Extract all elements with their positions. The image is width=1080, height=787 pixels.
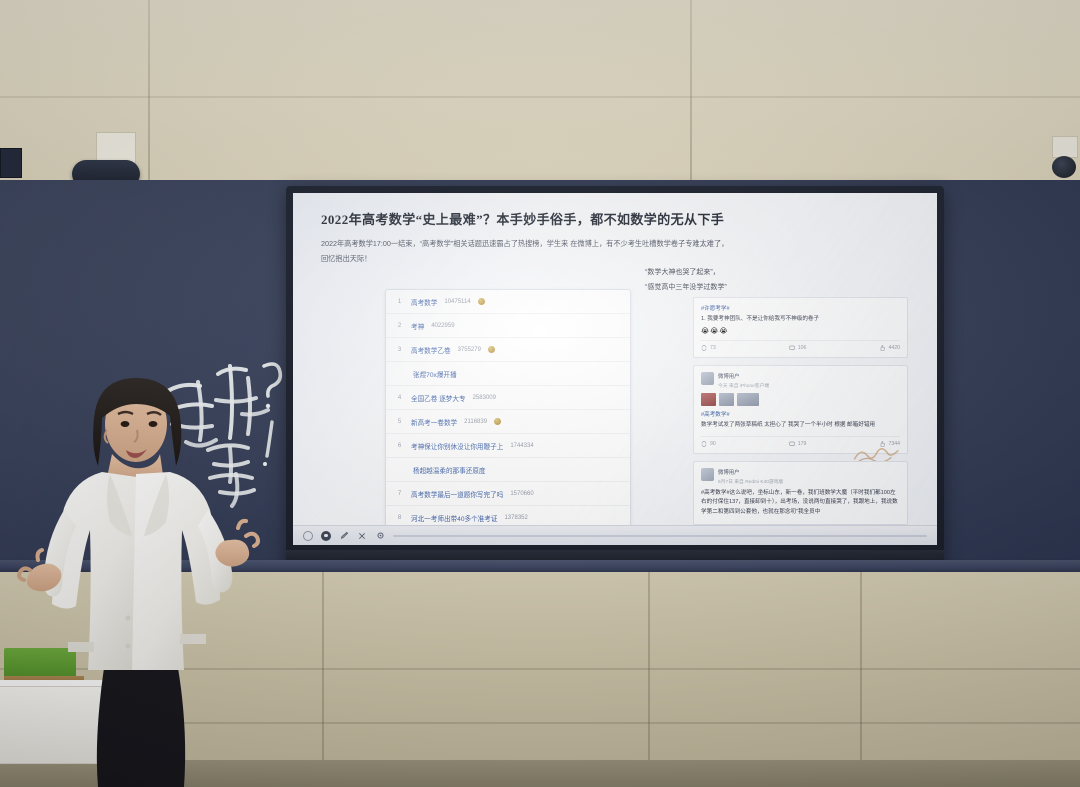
rank-number: 3 bbox=[395, 347, 404, 353]
rank-number: 2 bbox=[395, 323, 404, 329]
post-emojis: 😭😭😭 bbox=[701, 327, 900, 335]
slide-title: 2022年高考数学“史上最难”？本手妙手俗手，都不如数学的无从下手 bbox=[321, 209, 917, 228]
cabinet-seam bbox=[648, 572, 650, 787]
thumbnail-image[interactable] bbox=[737, 393, 759, 406]
teacher-eye-left bbox=[121, 421, 130, 427]
circle-outline-icon[interactable] bbox=[303, 531, 313, 541]
post-body: 1. 我要考神团队、不是让你给我写不神级的卷子 bbox=[701, 315, 900, 325]
list-item[interactable]: 4 全国乙卷 逐梦大专 2583009 bbox=[386, 386, 630, 410]
repost-action[interactable]: 73 bbox=[701, 345, 716, 351]
social-post[interactable]: #许愿考学# 1. 我要考神团队、不是让你给我写不神级的卷子 😭😭😭 73 bbox=[693, 297, 908, 358]
slide-subtitle: 2022年高考数学17:00一结束，“高考数学”相关话题迅速霸占了热搜榜，学生来… bbox=[321, 237, 917, 267]
list-item[interactable]: 张煜70x爆开播 bbox=[386, 362, 630, 386]
social-post[interactable]: 微博用户 6月7日 来自 Redmi K40游戏版 #高考数学#这么说吧，坐标山… bbox=[693, 461, 908, 525]
list-item[interactable]: 杨超越温柔的那事还原度 bbox=[386, 458, 630, 482]
thumbnail-image[interactable] bbox=[701, 393, 716, 406]
close-icon[interactable] bbox=[357, 531, 367, 541]
repost-icon bbox=[701, 345, 707, 351]
wall-camera bbox=[1052, 156, 1076, 178]
hot-keyword[interactable]: 全国乙卷 逐梦大专 bbox=[411, 393, 466, 403]
heat-value: 2116839 bbox=[464, 419, 487, 425]
teacher-blazer-right bbox=[132, 472, 220, 670]
brightness-slider[interactable] bbox=[393, 535, 927, 537]
teacher-blazer-left bbox=[52, 472, 144, 670]
teacher-coat-button bbox=[125, 615, 130, 620]
wall-panel-seam bbox=[148, 0, 150, 182]
post-author[interactable]: 微博用户 bbox=[718, 372, 900, 380]
upper-wall bbox=[0, 0, 1080, 182]
rank-number: 8 bbox=[395, 515, 404, 521]
hot-keyword[interactable]: 高考数学乙卷 bbox=[411, 345, 451, 355]
comment-count: 179 bbox=[798, 441, 807, 447]
list-item[interactable]: 6 考神保让你别休没让你用鞭子上 1744334 bbox=[386, 434, 630, 458]
post-body: 数学考试发了两张草稿纸 太担心了 我哭了一个半小时 根据 邮箱好错用 bbox=[701, 421, 900, 431]
list-item[interactable]: 1 高考数学 10475114 bbox=[386, 290, 630, 314]
teacher-eye-right bbox=[149, 421, 158, 427]
slide-subtitle-line-2: 回忆抱出天际！ bbox=[321, 252, 917, 267]
repost-count: 90 bbox=[710, 441, 716, 447]
hot-keyword[interactable]: 高考数学最后一道题你写完了吗 bbox=[411, 489, 503, 499]
heat-value: 1378352 bbox=[504, 515, 527, 521]
hot-badge-icon bbox=[494, 418, 501, 425]
slide-quote-2: “感觉高中三年没学过数学” bbox=[645, 280, 727, 295]
hot-keyword[interactable]: 新高考一卷数学 bbox=[411, 417, 457, 427]
cabinet-seam bbox=[322, 572, 324, 787]
teacher-skirt bbox=[97, 668, 185, 787]
list-item[interactable]: 5 新高考一卷数学 2116839 bbox=[386, 410, 630, 434]
thumbnail-image[interactable] bbox=[719, 393, 734, 406]
social-post[interactable]: 微博用户 今天 来自 iPhone客户端 bbox=[693, 365, 908, 454]
teacher-coat-button bbox=[125, 643, 130, 648]
smartboard-toolbar[interactable] bbox=[293, 525, 937, 545]
wall-horizontal-seam bbox=[0, 96, 1080, 98]
rank-number: 1 bbox=[395, 299, 404, 305]
hot-badge-icon bbox=[488, 346, 495, 353]
rank-number: 5 bbox=[395, 419, 404, 425]
comment-icon bbox=[789, 345, 795, 351]
repost-action[interactable]: 90 bbox=[701, 441, 716, 447]
post-hashtag[interactable]: #许愿考学# bbox=[701, 304, 900, 312]
slide-quote-1: “数学大神也哭了起来”， bbox=[645, 265, 727, 280]
presenting-teacher bbox=[8, 368, 288, 787]
hot-search-card[interactable]: 1 高考数学 10475114 2 考神 4022959 3 高考数学乙卷 37… bbox=[385, 289, 631, 533]
comment-action[interactable]: 106 bbox=[789, 345, 807, 351]
comment-count: 106 bbox=[798, 345, 807, 351]
hot-keyword[interactable]: 考神保让你别休没让你用鞭子上 bbox=[411, 441, 503, 451]
heat-value: 10475114 bbox=[444, 299, 470, 305]
heat-value: 4022959 bbox=[431, 323, 454, 329]
wall-junction-box bbox=[0, 148, 22, 178]
post-author[interactable]: 微博用户 bbox=[718, 468, 900, 476]
post-timestamp: 6月7日 来自 Redmi K40游戏版 bbox=[718, 478, 900, 485]
pen-icon[interactable] bbox=[339, 531, 349, 541]
teacher-pocket-left bbox=[68, 642, 94, 652]
comment-icon bbox=[789, 441, 795, 447]
post-actions[interactable]: 73 106 bbox=[701, 340, 900, 351]
hot-keyword[interactable]: 杨超越温柔的那事还原度 bbox=[413, 465, 486, 475]
post-header: 微博用户 6月7日 来自 Redmi K40游戏版 bbox=[701, 468, 900, 485]
gear-icon[interactable] bbox=[375, 531, 385, 541]
heat-value: 1744334 bbox=[510, 443, 533, 449]
avatar[interactable] bbox=[701, 468, 714, 481]
like-count: 4420 bbox=[888, 345, 900, 351]
repost-count: 73 bbox=[710, 345, 716, 351]
hot-badge-icon bbox=[478, 298, 485, 305]
list-item[interactable]: 3 高考数学乙卷 3755279 bbox=[386, 338, 630, 362]
post-body: #高考数学#这么说吧，坐标山东，新一卷，我们班数学大魔（平时我们都100左右的付… bbox=[701, 489, 900, 518]
classroom-scene: 2022年高考数学“史上最难”？本手妙手俗手，都不如数学的无从下手 2022年高… bbox=[0, 0, 1080, 787]
post-thumbnails[interactable] bbox=[701, 393, 900, 406]
interactive-smartboard[interactable]: 2022年高考数学“史上最难”？本手妙手俗手，都不如数学的无从下手 2022年高… bbox=[286, 186, 944, 572]
smartboard-screen[interactable]: 2022年高考数学“史上最难”？本手妙手俗手，都不如数学的无从下手 2022年高… bbox=[293, 193, 937, 545]
wall-outlet-plate-right bbox=[1052, 136, 1078, 158]
record-dot-icon[interactable] bbox=[321, 531, 331, 541]
heat-value: 1570660 bbox=[510, 491, 533, 497]
heat-value: 3755279 bbox=[458, 347, 481, 353]
post-meta: 微博用户 6月7日 来自 Redmi K40游戏版 bbox=[718, 468, 900, 485]
rank-number: 7 bbox=[395, 491, 404, 497]
slide-subtitle-line-1: 2022年高考数学17:00一结束，“高考数学”相关话题迅速霸占了热搜榜，学生来… bbox=[321, 237, 917, 252]
repost-icon bbox=[701, 441, 707, 447]
rank-number: 4 bbox=[395, 395, 404, 401]
heat-value: 2583009 bbox=[473, 395, 496, 401]
post-meta: 微博用户 今天 来自 iPhone客户端 bbox=[718, 372, 900, 389]
post-header: 微博用户 今天 来自 iPhone客户端 bbox=[701, 372, 900, 389]
wall-panel-seam bbox=[690, 0, 692, 182]
hot-keyword[interactable]: 河北一考师出带40多个准考证 bbox=[411, 513, 497, 523]
post-hashtag[interactable]: #高考数学# bbox=[701, 410, 900, 418]
hot-keyword[interactable]: 张煜70x爆开播 bbox=[413, 369, 457, 379]
teacher-hand-right bbox=[215, 521, 258, 567]
slide-quotes: “数学大神也哭了起来”， “感觉高中三年没学过数学” bbox=[645, 265, 727, 296]
cabinet-seam bbox=[860, 572, 862, 787]
hot-keyword[interactable]: 高考数学 bbox=[411, 297, 437, 307]
hot-keyword[interactable]: 考神 bbox=[411, 321, 424, 331]
like-action[interactable]: 4420 bbox=[879, 345, 900, 351]
teacher-pocket-right bbox=[180, 634, 206, 644]
social-posts-column: #许愿考学# 1. 我要考神团队、不是让你给我写不神级的卷子 😭😭😭 73 bbox=[693, 297, 908, 532]
rank-number: 6 bbox=[395, 443, 404, 449]
post-timestamp: 今天 来自 iPhone客户端 bbox=[718, 382, 900, 389]
list-item[interactable]: 7 高考数学最后一道题你写完了吗 1570660 bbox=[386, 482, 630, 506]
avatar[interactable] bbox=[701, 372, 714, 385]
thumbs-up-icon bbox=[879, 345, 885, 351]
presentation-slide: 2022年高考数学“史上最难”？本手妙手俗手，都不如数学的无从下手 2022年高… bbox=[293, 193, 937, 545]
comment-action[interactable]: 179 bbox=[789, 441, 807, 447]
list-item[interactable]: 2 考神 4022959 bbox=[386, 314, 630, 338]
